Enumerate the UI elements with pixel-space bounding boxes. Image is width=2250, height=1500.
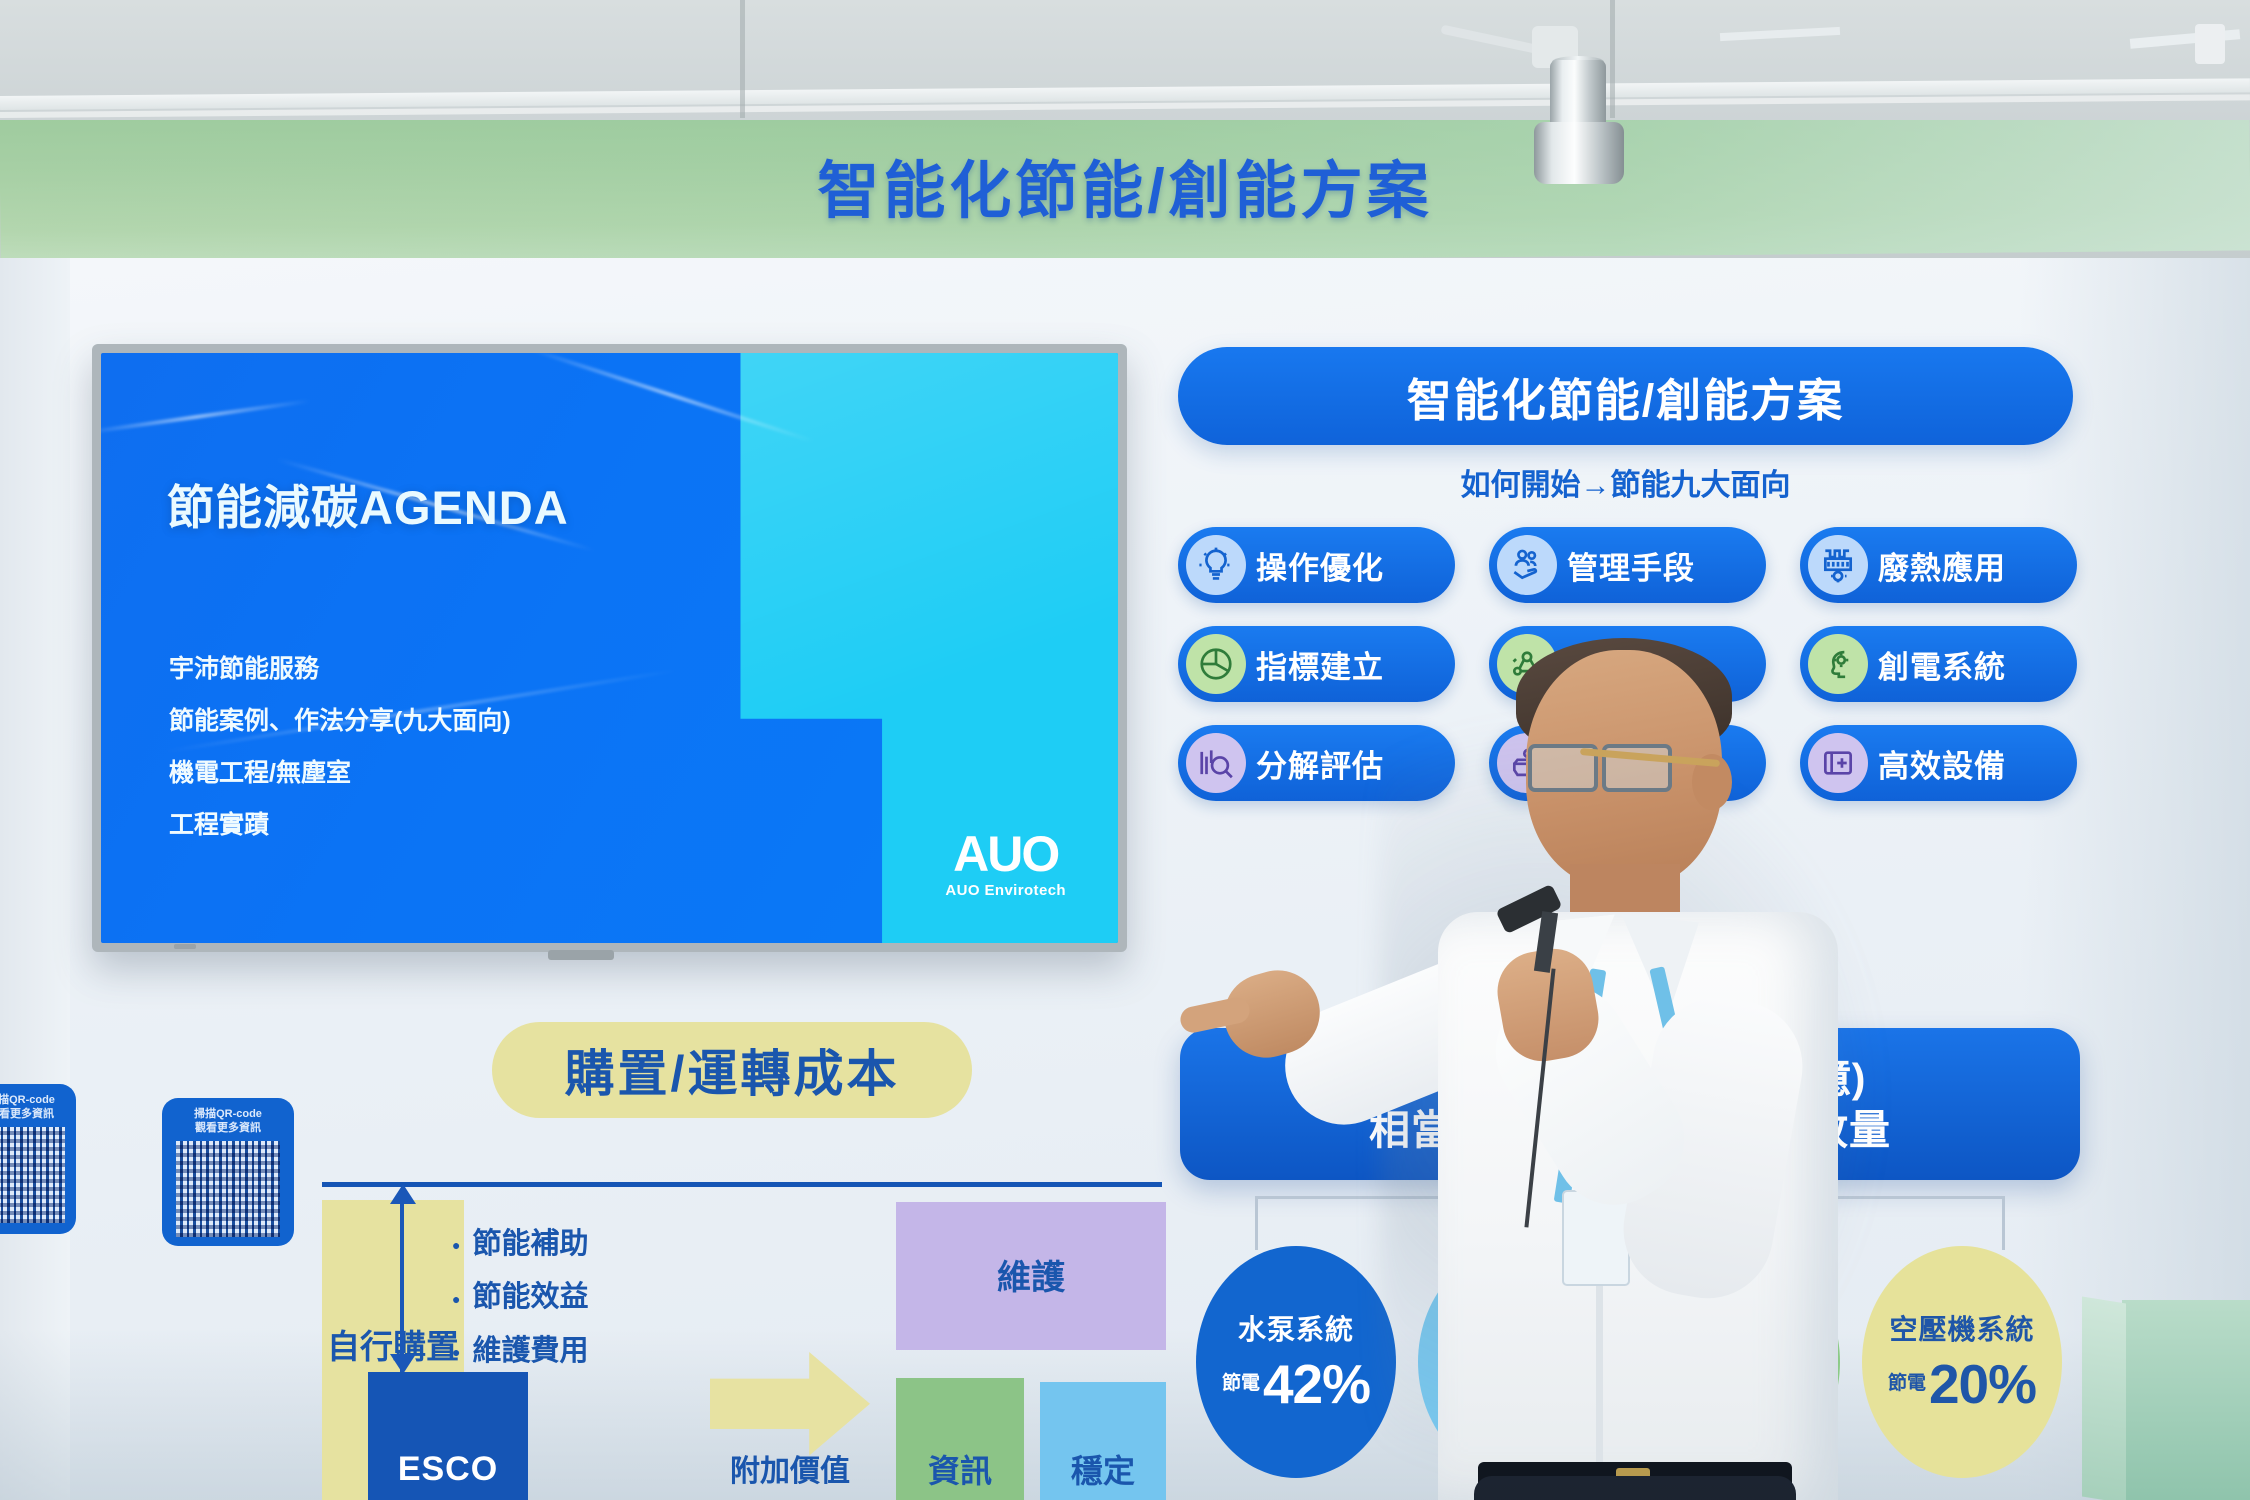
bullet-item: 節能效益: [452, 1271, 588, 1324]
auo-logo-subtitle: AUO Envirotech: [945, 882, 1066, 899]
chart-bar-label: 資訊: [896, 1446, 1024, 1492]
chip-label: 操作優化: [1256, 543, 1384, 588]
qr-card[interactable]: 掃描QR-code 觀看更多資訊: [0, 1084, 76, 1234]
qr-card[interactable]: 掃描QR-code 觀看更多資訊: [162, 1098, 294, 1246]
spotlight-fixture: [1520, 18, 1640, 168]
chip-waste-heat-application[interactable]: 廢熱應用: [1800, 527, 2077, 603]
poster-header-text: 智能化節能/創能方案: [1407, 364, 1845, 429]
stat-value: 42%: [1263, 1352, 1370, 1416]
slide-streak: [101, 399, 310, 435]
tv-stand: [548, 950, 614, 960]
slide-line: 宇沛節能服務: [169, 643, 511, 695]
chip-row: 操作優化 管理手段 廢熱應用: [1178, 527, 2078, 603]
pie-chart-icon: [1186, 634, 1246, 694]
chip-label: 創電系統: [1878, 642, 2006, 687]
stat-value: 20%: [1929, 1352, 2036, 1416]
chip-management-method[interactable]: 管理手段: [1489, 527, 1766, 603]
cost-panel-title: 購置/運轉成本: [565, 1034, 900, 1106]
stat-water-pump: 水泵系統 節電 42%: [1196, 1246, 1396, 1478]
venue-banner-title: 智能化節能/創能方案: [700, 140, 1550, 230]
added-value-label: 附加價值: [710, 1446, 870, 1490]
tv-screen[interactable]: 節能減碳AGENDA 宇沛節能服務 節能案例、作法分享(九大面向) 機電工程/無…: [101, 353, 1118, 943]
presenter-glasses: [1528, 744, 1678, 784]
chip-label: 廢熱應用: [1878, 543, 2006, 588]
poster-header-pill: 智能化節能/創能方案: [1178, 347, 2073, 445]
range-arrow-line: [400, 1190, 404, 1372]
chart-bar-label: ESCO: [368, 1450, 528, 1489]
auo-logo-mark: AUO: [945, 831, 1066, 879]
presentation-display[interactable]: 節能減碳AGENDA 宇沛節能服務 節能案例、作法分享(九大面向) 機電工程/無…: [92, 344, 1127, 952]
magnifier-icon: [1186, 733, 1246, 793]
poster-subtitle: 如何開始→節能九大面向: [1178, 460, 2073, 504]
stat-prefix: 節電: [1222, 1375, 1260, 1393]
connector-branch: [2002, 1196, 2005, 1250]
connector-branch: [1255, 1196, 1258, 1250]
qr-card-line2: 觀看更多資訊: [170, 1121, 286, 1135]
qr-code-image: [176, 1141, 280, 1237]
ceiling-bracket: [2195, 24, 2225, 64]
chip-label: 指標建立: [1256, 642, 1384, 687]
slide-bullet-list: 宇沛節能服務 節能案例、作法分享(九大面向) 機電工程/無塵室 工程實蹟: [169, 643, 511, 851]
chip-indicator-establishment[interactable]: 指標建立: [1178, 626, 1455, 702]
slide-title: 節能減碳AGENDA: [167, 469, 569, 538]
chart-bar-label: 穩定: [1040, 1446, 1166, 1492]
factory-gear-icon: [1808, 535, 1868, 595]
slide-line: 節能案例、作法分享(九大面向): [169, 695, 511, 747]
chart-bar-information: 資訊: [896, 1378, 1024, 1500]
qr-card-line1: 掃描QR-code: [170, 1107, 286, 1121]
chart-top-rule: [322, 1182, 1162, 1187]
chart-bar-esco: ESCO: [368, 1372, 528, 1500]
slide-line: 工程實蹟: [169, 799, 511, 851]
chart-bar-label: 維護: [896, 1250, 1166, 1299]
chart-bar-maintenance: 維護: [896, 1202, 1166, 1350]
presenter-trousers: [1474, 1476, 1796, 1500]
qr-card-line1: 掃描QR-code: [0, 1093, 68, 1107]
people-hand-icon: [1497, 535, 1557, 595]
wall-left-edge: [0, 258, 70, 1500]
lightbulb-icon: [1186, 535, 1246, 595]
tv-power-led: [174, 944, 196, 949]
exhibition-booth-photo: 智能化節能/創能方案 節能減碳AGENDA 宇沛節能服務 節能案例、作法分享(九…: [0, 0, 2250, 1500]
chip-label: 分解評估: [1256, 741, 1384, 786]
chip-power-generation-system[interactable]: 創電系統: [1800, 626, 2077, 702]
qr-card-line2: 觀看更多資訊: [0, 1107, 68, 1121]
range-arrow-down-icon: [390, 1354, 416, 1374]
stat-name: 水泵系統: [1238, 1308, 1354, 1348]
ceiling-panel-joint: [740, 0, 745, 118]
cost-comparison-chart: 自行購置 節能補助 節能效益 維護費用 ESCO 附加價值 資訊 穩定 維護: [322, 1182, 1162, 1500]
bullet-item: 節能補助: [452, 1218, 588, 1271]
chart-bar-stability: 穩定: [1040, 1382, 1166, 1500]
stat-name: 空壓機系統: [1889, 1308, 2034, 1348]
stat-value-row: 節電 42%: [1222, 1352, 1370, 1416]
bullet-item: 維護費用: [452, 1325, 588, 1378]
auo-logo: AUO AUO Envirotech: [945, 831, 1066, 900]
cost-panel-title-pill: 購置/運轉成本: [492, 1022, 972, 1118]
stat-value-row: 節電 20%: [1888, 1352, 2036, 1416]
slide-line: 機電工程/無塵室: [169, 747, 511, 799]
presenter: [1420, 650, 1840, 1500]
chip-label: 管理手段: [1567, 543, 1695, 588]
qr-code-image: [0, 1127, 65, 1223]
green-floor-block: [2122, 1300, 2250, 1500]
lamp-head: [1534, 122, 1624, 184]
chip-operation-optimization[interactable]: 操作優化: [1178, 527, 1455, 603]
savings-bullet-list: 節能補助 節能效益 維護費用: [452, 1218, 588, 1378]
